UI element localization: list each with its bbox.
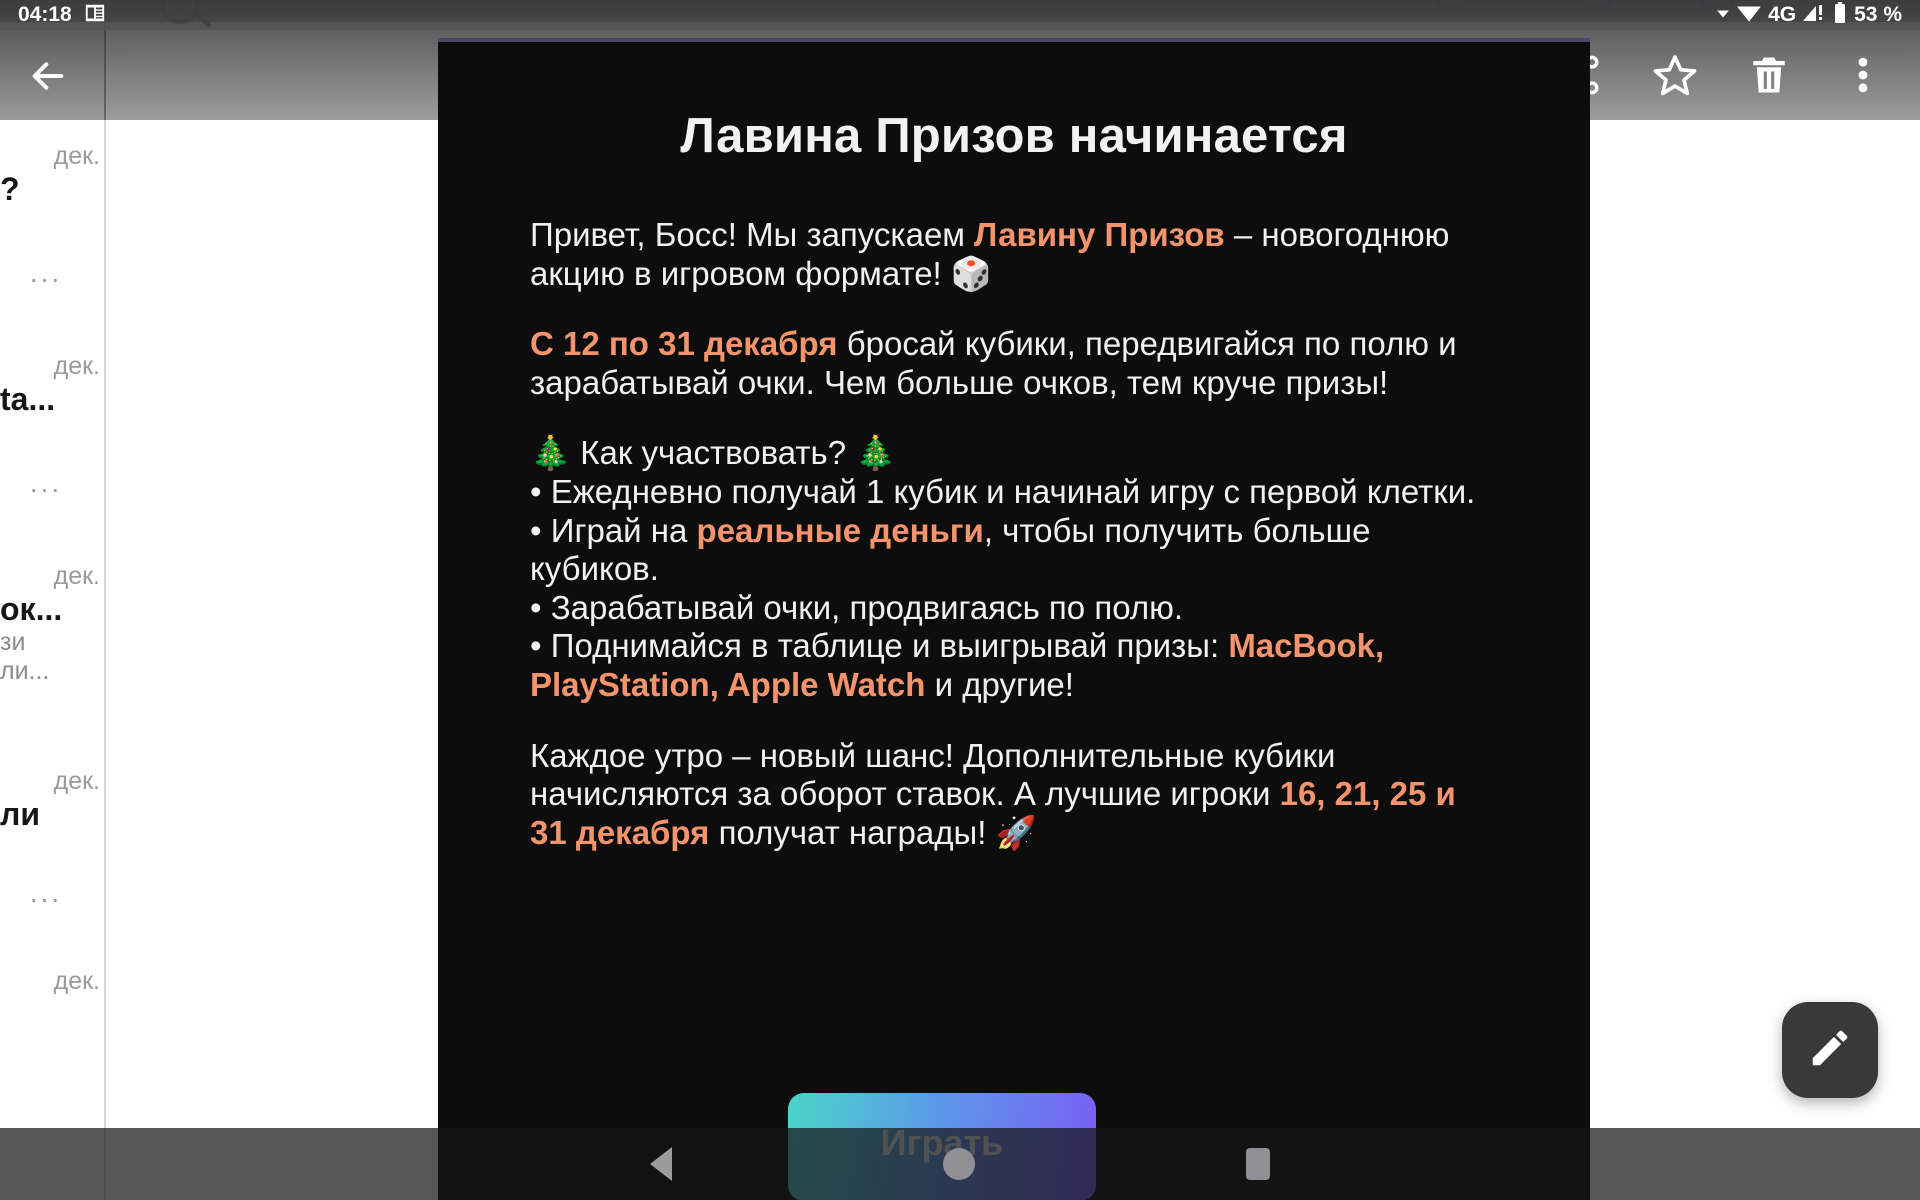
emoji-glyph: 🎲 (951, 254, 992, 293)
dialog-paragraph-dates: С 12 по 31 декабря бросай кубики, передв… (530, 325, 1498, 402)
emoji-glyph: 🎄 (530, 433, 571, 472)
dialog-howto-bullet-2: • Играй на реальные деньги, чтобы получи… (530, 512, 1498, 589)
dialog-howto-bullet-3: • Зарабатывай очки, продвигаясь по полю. (530, 589, 1498, 628)
list-item-ellipsis-row: ... (0, 467, 106, 499)
android-status-bar: 04:18 4G (0, 0, 1920, 30)
list-item-date: дек. (0, 767, 106, 796)
list-item-date: дек. (0, 352, 106, 381)
list-item-title: ли (0, 796, 106, 833)
body-text: получат награды! (709, 814, 995, 851)
highlighted-text: С 12 по 31 декабря (530, 325, 838, 362)
signal-warning-icon (1802, 2, 1826, 28)
message-list[interactable]: дек. ? ... дек. ta... ... дек. ок... зи … (0, 22, 106, 1200)
back-arrow-icon[interactable] (20, 54, 76, 98)
body-text: • Играй на (530, 512, 697, 549)
highlighted-text: реальные деньги (697, 512, 984, 549)
body-text: и другие! (925, 666, 1074, 703)
status-bar-time: 04:18 (18, 3, 72, 27)
list-item-ellipsis-row: ... (0, 877, 106, 909)
network-type-label: 4G (1768, 3, 1796, 27)
body-text: Привет, Босс! Мы запускаем (530, 216, 974, 253)
dialog-content: Лавина Призов начинается Привет, Босс! М… (438, 38, 1590, 853)
more-vert-icon[interactable] (1840, 52, 1886, 98)
compose-fab-button[interactable] (1782, 1002, 1878, 1098)
dialog-howto-heading: 🎄 Как участвовать? 🎄 (530, 434, 1498, 473)
list-item-date: дек. (0, 562, 106, 591)
list-item-subtitle: зи (0, 628, 106, 657)
list-item[interactable]: дек. (0, 967, 106, 996)
body-text: • Зарабатывай очки, продвигаясь по полю. (530, 589, 1183, 626)
star-icon[interactable] (1652, 52, 1698, 98)
dialog-paragraph-rewards: Каждое утро – новый шанс! Дополнительные… (530, 737, 1498, 853)
list-item-date: дек. (0, 142, 106, 171)
wifi-icon (1736, 2, 1762, 28)
list-item-subtitle-2: ли... (0, 657, 106, 686)
body-text: Как участвовать? (571, 434, 855, 471)
body-text: • Ежедневно получай 1 кубик и начинай иг… (530, 473, 1475, 510)
nav-recents-square-icon[interactable] (1246, 1148, 1270, 1180)
list-item-title: ? (0, 171, 106, 208)
dropdown-caret-icon (1716, 6, 1730, 25)
list-item-title: ta... (0, 381, 106, 418)
dialog-paragraph-intro: Привет, Босс! Мы запускаем Лавину Призов… (530, 216, 1498, 293)
battery-icon (1832, 1, 1848, 29)
emoji-glyph: 🎄 (855, 433, 896, 472)
list-item[interactable]: дек. ок... зи ли... (0, 562, 106, 686)
compose-pencil-icon (1807, 1025, 1853, 1076)
overlay-divider (104, 30, 106, 120)
list-item-truncation: ... (0, 467, 106, 499)
dialog-title: Лавина Призов начинается (530, 108, 1498, 164)
list-item-title: ок... (0, 591, 106, 628)
dialog-howto-bullet-1: • Ежедневно получай 1 кубик и начинай иг… (530, 473, 1498, 512)
android-nav-bar (0, 1128, 1920, 1200)
phone-screen: дек. ? ... дек. ta... ... дек. ок... зи … (0, 0, 1920, 1200)
promo-dialog: Лавина Призов начинается Привет, Босс! М… (438, 38, 1590, 1200)
list-divider (104, 22, 106, 1200)
list-item-truncation: ... (0, 257, 106, 289)
list-item-date: дек. (0, 967, 106, 996)
overlay-action-group (1558, 52, 1886, 98)
highlighted-text: Лавину Призов (974, 216, 1225, 253)
news-notification-icon (84, 2, 106, 28)
list-item[interactable]: дек. ли (0, 767, 106, 833)
list-item-ellipsis-row: ... (0, 257, 106, 289)
trash-icon[interactable] (1746, 52, 1792, 98)
emoji-glyph: 🚀 (996, 813, 1037, 852)
list-item[interactable]: дек. ta... (0, 352, 106, 418)
dialog-howto-bullet-4: • Поднимайся в таблице и выигрывай призы… (530, 627, 1498, 704)
nav-back-triangle-icon[interactable] (650, 1147, 672, 1181)
battery-percent-label: 53 % (1854, 3, 1902, 27)
body-text: Каждое утро – новый шанс! Дополнительные… (530, 737, 1335, 813)
body-text: • Поднимайся в таблице и выигрывай призы… (530, 627, 1228, 664)
list-item-truncation: ... (0, 877, 106, 909)
list-item[interactable]: дек. ? (0, 142, 106, 208)
nav-home-circle-icon[interactable] (943, 1148, 975, 1180)
